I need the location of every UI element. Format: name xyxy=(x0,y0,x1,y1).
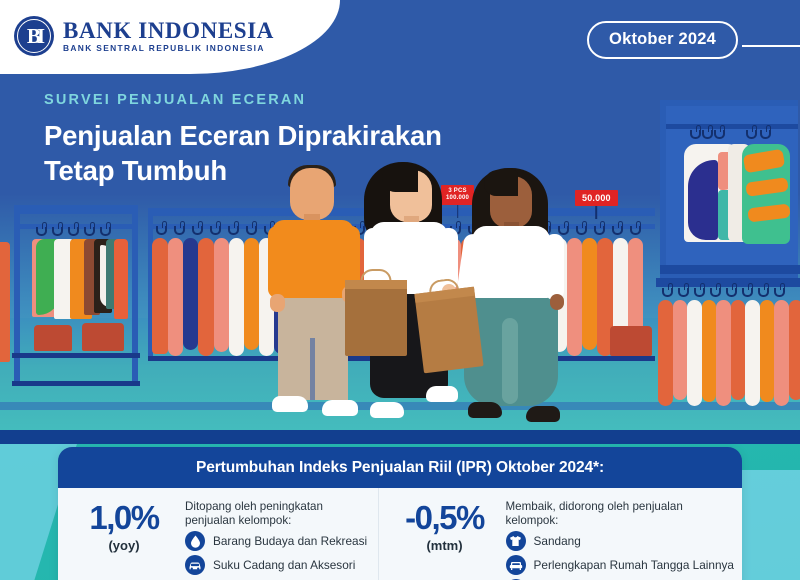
hero-kicker: SURVEI PENJUALAN ECERAN xyxy=(44,92,514,108)
infographic-canvas: 3 PCS 100.000 50.000 xyxy=(0,0,800,580)
hero-headline-line1: Penjualan Eceran Diprakirakan xyxy=(44,118,514,153)
yoy-item-list: Barang Budaya dan Rekreasi xyxy=(185,531,370,575)
panel-column-mtm: -0,5% (mtm) Membaik, didorong oleh penju… xyxy=(379,488,742,580)
list-item: Perlengkapan Rumah Tangga Lainnya xyxy=(506,555,734,575)
date-badge: Oktober 2024 xyxy=(587,21,738,59)
mtm-value: -0,5% xyxy=(393,502,497,533)
mtm-lead-text: Membaik, didorong oleh penjualan kelompo… xyxy=(506,500,734,528)
panel-column-yoy: 1,0% (yoy) Ditopang oleh peningkatan pen… xyxy=(58,488,379,580)
page-header: BI BANK INDONESIA BANK SENTRAL REPUBLIK … xyxy=(0,0,800,78)
list-item-label: Barang Budaya dan Rekreasi xyxy=(213,534,367,548)
yoy-lead-text: Ditopang oleh peningkatan penjualan kelo… xyxy=(185,500,370,528)
list-item-label: Perlengkapan Rumah Tangga Lainnya xyxy=(534,558,734,572)
bank-indonesia-logo: BI BANK INDONESIA BANK SENTRAL REPUBLIK … xyxy=(14,16,274,56)
panel-title: Pertumbuhan Indeks Penjualan Riil (IPR) … xyxy=(58,447,742,488)
yoy-details: Ditopang oleh peningkatan penjualan kelo… xyxy=(185,500,378,580)
panel-body: 1,0% (yoy) Ditopang oleh peningkatan pen… xyxy=(58,488,742,580)
yoy-value: 1,0% xyxy=(72,502,176,533)
droplet-icon xyxy=(185,531,205,551)
list-item-label: Sandang xyxy=(534,534,581,548)
display-cabinet-right xyxy=(660,100,798,280)
tshirt-icon xyxy=(506,531,526,551)
list-item: Sandang xyxy=(506,531,734,551)
car-icon xyxy=(185,555,205,575)
logo-text-block: BANK INDONESIA BANK SENTRAL REPUBLIK IND… xyxy=(63,19,274,53)
shopping-bag-right xyxy=(414,287,483,374)
list-item-label: Suku Cadang dan Aksesori xyxy=(213,558,355,572)
list-item: Suku Cadang dan Aksesori xyxy=(185,555,370,575)
date-badge-connector-line xyxy=(742,45,800,47)
price-tag-amount-2: 50.000 xyxy=(575,190,618,206)
clothing-rack-right xyxy=(656,278,800,408)
shopping-bag-left xyxy=(345,280,407,356)
sofa-icon xyxy=(506,555,526,575)
mtm-item-list: Sandang xyxy=(506,531,734,580)
background-band-right xyxy=(740,470,800,580)
ipr-growth-panel: Pertumbuhan Indeks Penjualan Riil (IPR) … xyxy=(58,447,742,580)
mtm-period: (mtm) xyxy=(393,538,497,553)
yoy-figure-block: 1,0% (yoy) xyxy=(72,500,176,580)
logo-name: BANK INDONESIA xyxy=(63,19,274,43)
mtm-details: Membaik, didorong oleh penjualan kelompo… xyxy=(506,500,742,580)
clothing-rack-left xyxy=(14,205,138,385)
scene-base-bar xyxy=(0,430,800,444)
list-item: Barang Budaya dan Rekreasi xyxy=(185,531,370,551)
bi-monogram: BI xyxy=(27,26,41,47)
logo-tagline: BANK SENTRAL REPUBLIK INDONESIA xyxy=(63,44,274,53)
yoy-period: (yoy) xyxy=(72,538,176,553)
bi-logo-icon: BI xyxy=(14,16,54,56)
mtm-figure-block: -0,5% (mtm) xyxy=(393,500,497,580)
